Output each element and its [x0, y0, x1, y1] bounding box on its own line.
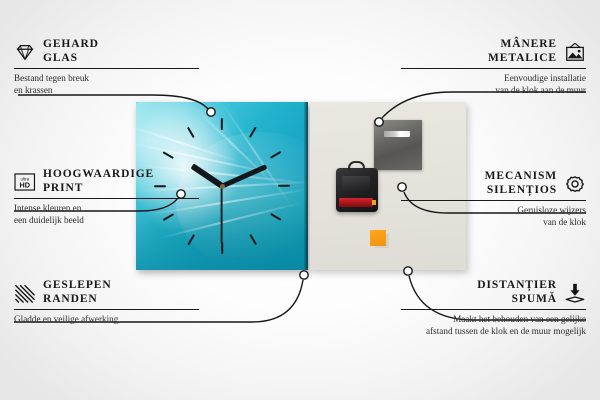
callout-title: GESLEPEN RANDEN: [43, 279, 112, 306]
connector-dot-randen: [300, 271, 308, 279]
aa-battery: [339, 198, 373, 207]
callout-header: GESLEPEN RANDEN: [14, 279, 199, 306]
callout-header: MECANISM SILENȚIOS: [401, 170, 586, 197]
hour-tick-3: [278, 185, 290, 187]
second-hand: [221, 186, 223, 244]
hour-tick-11: [187, 127, 195, 139]
hour-tick-7: [187, 234, 195, 246]
callout-rule: [401, 68, 586, 69]
callout-desc-line: Eenvoudige installatie: [401, 73, 586, 85]
spacer-down-arrow-icon: [564, 282, 586, 304]
infographic-canvas: GEHARD GLAS Bestand tegen breuk en krass…: [0, 0, 600, 400]
callout-header: GEHARD GLAS: [14, 38, 199, 65]
callout-header: DISTANȚIER SPUMĂ: [401, 279, 586, 306]
diamond-icon: [14, 41, 36, 63]
hanging-loop: [348, 161, 365, 171]
hour-tick-12: [221, 118, 223, 130]
callout-desc-line: van de klok: [401, 217, 586, 229]
hour-tick-10: [163, 151, 175, 159]
callout-title: GEHARD GLAS: [43, 38, 99, 65]
callout-desc-line: Bestand tegen breuk: [14, 73, 199, 85]
minute-hand: [221, 164, 267, 188]
hand-center-cap: [220, 184, 225, 189]
mechanism-label: [342, 176, 370, 192]
hanger-slot: [384, 131, 410, 137]
callout-desc-line: van de klok aan de muur: [401, 85, 586, 97]
foam-spacer-block: [370, 230, 386, 246]
callout-rule: [401, 200, 586, 201]
callout-mecanism-silentios: MECANISM SILENȚIOS Geruisloze wijzers va…: [401, 170, 586, 228]
callout-rule: [14, 309, 199, 310]
callout-rule: [14, 198, 199, 199]
callout-desc-line: Maakt het behouden van een gelijke: [401, 314, 586, 326]
clock-mechanism: [336, 168, 378, 212]
callout-desc-line: Intense kleuren en: [14, 203, 199, 215]
callout-gehard-glas: GEHARD GLAS Bestand tegen breuk en krass…: [14, 38, 199, 96]
svg-text:HD: HD: [19, 180, 29, 189]
callout-title: MECANISM SILENȚIOS: [485, 170, 557, 197]
callout-rule: [401, 309, 586, 310]
callout-manere-metalice: MÂNERE METALICE Eenvoudige installatie v…: [401, 38, 586, 96]
callout-title: HOOGWAARDIGE PRINT: [43, 168, 154, 195]
callout-geslepen-randen: GESLEPEN RANDEN Gladde en veilige afwerk…: [14, 279, 199, 326]
hour-tick-5: [249, 234, 257, 246]
callout-desc-line: en krassen: [14, 85, 199, 97]
callout-desc-line: een duidelijk beeld: [14, 215, 199, 227]
callout-title: MÂNERE METALICE: [488, 38, 557, 65]
picture-hanger-icon: [564, 41, 586, 63]
ultra-hd-icon: ultra HD: [14, 171, 36, 193]
gear-icon: [564, 173, 586, 195]
callout-hoogwaardige-print: ultra HD HOOGWAARDIGE PRINT Intense kleu…: [14, 168, 199, 226]
callout-header: ultra HD HOOGWAARDIGE PRINT: [14, 168, 199, 195]
callout-distantier-spuma: DISTANȚIER SPUMĂ Maakt het behouden van …: [401, 279, 586, 337]
callout-header: MÂNERE METALICE: [401, 38, 586, 65]
hour-tick-1: [249, 127, 257, 139]
metal-hanger-plate: [374, 120, 422, 170]
beveled-edges-icon: [14, 282, 36, 304]
hour-tick-4: [270, 213, 282, 221]
callout-desc-line: Gladde en veilige afwerking: [14, 314, 199, 326]
hour-tick-2: [270, 151, 282, 159]
callout-desc-line: afstand tussen de klok en de muur mogeli…: [401, 326, 586, 338]
callout-rule: [14, 68, 199, 69]
callout-title: DISTANȚIER SPUMĂ: [477, 279, 557, 306]
callout-desc-line: Geruisloze wijzers: [401, 205, 586, 217]
